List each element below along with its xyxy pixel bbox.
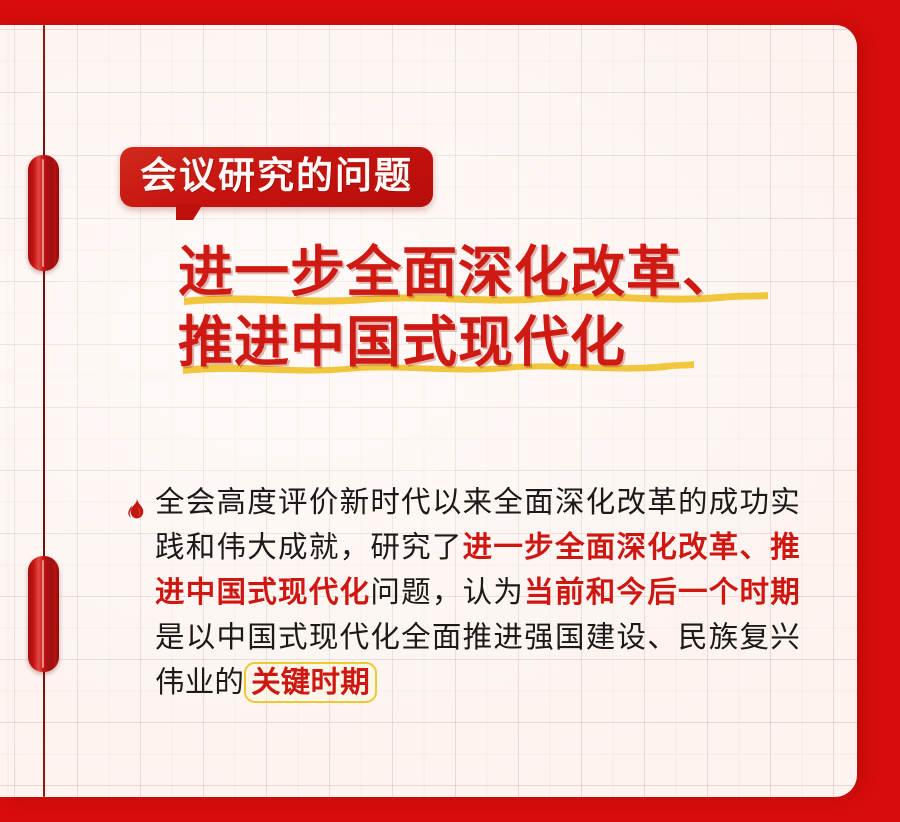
body-segment-normal-2: 问题，认为 <box>370 575 524 609</box>
headline-block: 进一步全面深化改革、 推进中国式现代化 <box>178 237 838 377</box>
headline-line-2: 推进中国式现代化 <box>178 307 838 377</box>
section-badge: 会议研究的问题 <box>120 147 433 207</box>
speech-bubble-tail-icon <box>176 204 203 220</box>
headline-line-1: 进一步全面深化改革、 <box>178 237 838 307</box>
flame-icon <box>126 497 146 519</box>
poster-canvas: 会议研究的问题 进一步全面深化改革、 推进中国式现代化 <box>0 0 900 822</box>
section-badge-wrapper: 会议研究的问题 <box>120 147 433 207</box>
poster-content: 会议研究的问题 进一步全面深化改革、 推进中国式现代化 <box>0 25 857 797</box>
body-block: 全会高度评价新时代以来全面深化改革的成功实践和伟大成就，研究了进一步全面深化改革… <box>124 480 800 705</box>
headline-line-2-text: 推进中国式现代化 <box>178 310 626 374</box>
body-segment-highlight-boxed: 关键时期 <box>244 662 377 703</box>
body-segment-emphasis-2: 当前和今后一个时期 <box>524 575 800 609</box>
body-paragraph: 全会高度评价新时代以来全面深化改革的成功实践和伟大成就，研究了进一步全面深化改革… <box>124 480 800 705</box>
section-badge-label: 会议研究的问题 <box>140 154 413 198</box>
headline-line-1-text: 进一步全面深化改革、 <box>178 240 738 304</box>
